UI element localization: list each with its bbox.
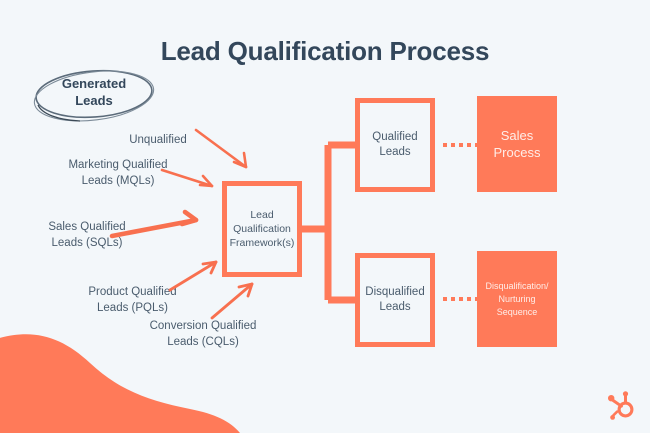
node-qualified-leads[interactable]: Qualified Leads xyxy=(355,98,435,192)
generated-leads-label: Generated Leads xyxy=(28,75,160,109)
page-title: Lead Qualification Process xyxy=(0,36,650,67)
node-disqualified-leads-label: Disqualified Leads xyxy=(365,285,424,315)
label-cqls: Conversion Qualified Leads (CQLs) xyxy=(148,319,258,350)
node-disqualified-leads[interactable]: Disqualified Leads xyxy=(355,253,435,347)
label-sqls: Sales Qualified Leads (SQLs) xyxy=(32,220,142,251)
generated-leads-line-2: Leads xyxy=(28,92,160,109)
node-sales-process[interactable]: Sales Process xyxy=(477,96,557,192)
label-pqls: Product Qualified Leads (PQLs) xyxy=(80,285,185,316)
connector-dot xyxy=(467,143,471,147)
connector-dot xyxy=(459,143,463,147)
diagram-canvas: Lead Qualification Process Generated Lea… xyxy=(0,0,650,433)
dotted-connector-qualified-to-sales xyxy=(443,143,479,147)
node-sales-process-label: Sales Process xyxy=(494,127,541,161)
label-unqualified: Unqualified xyxy=(108,133,208,149)
connector-dot xyxy=(451,143,455,147)
connector-dot xyxy=(443,297,447,301)
hubspot-sprocket-icon xyxy=(604,390,636,422)
connector-dot xyxy=(475,143,479,147)
dotted-connector-disqualified-to-nurturing xyxy=(443,297,479,301)
generated-leads-annotation: Generated Leads xyxy=(28,67,160,122)
node-lead-qualification-framework-label: Lead Qualification Framework(s) xyxy=(230,208,295,250)
node-nurturing-sequence-label: Disqualification/ Nurturing Sequence xyxy=(485,280,548,319)
node-lead-qualification-framework[interactable]: Lead Qualification Framework(s) xyxy=(222,181,302,277)
node-nurturing-sequence[interactable]: Disqualification/ Nurturing Sequence xyxy=(477,251,557,347)
node-qualified-leads-label: Qualified Leads xyxy=(372,130,417,160)
connector-dot xyxy=(467,297,471,301)
connector-dot xyxy=(443,143,447,147)
generated-leads-line-1: Generated xyxy=(28,75,160,92)
label-mqls: Marketing Qualified Leads (MQLs) xyxy=(58,158,178,189)
connector-dot xyxy=(475,297,479,301)
connector-dot xyxy=(451,297,455,301)
connector-dot xyxy=(459,297,463,301)
